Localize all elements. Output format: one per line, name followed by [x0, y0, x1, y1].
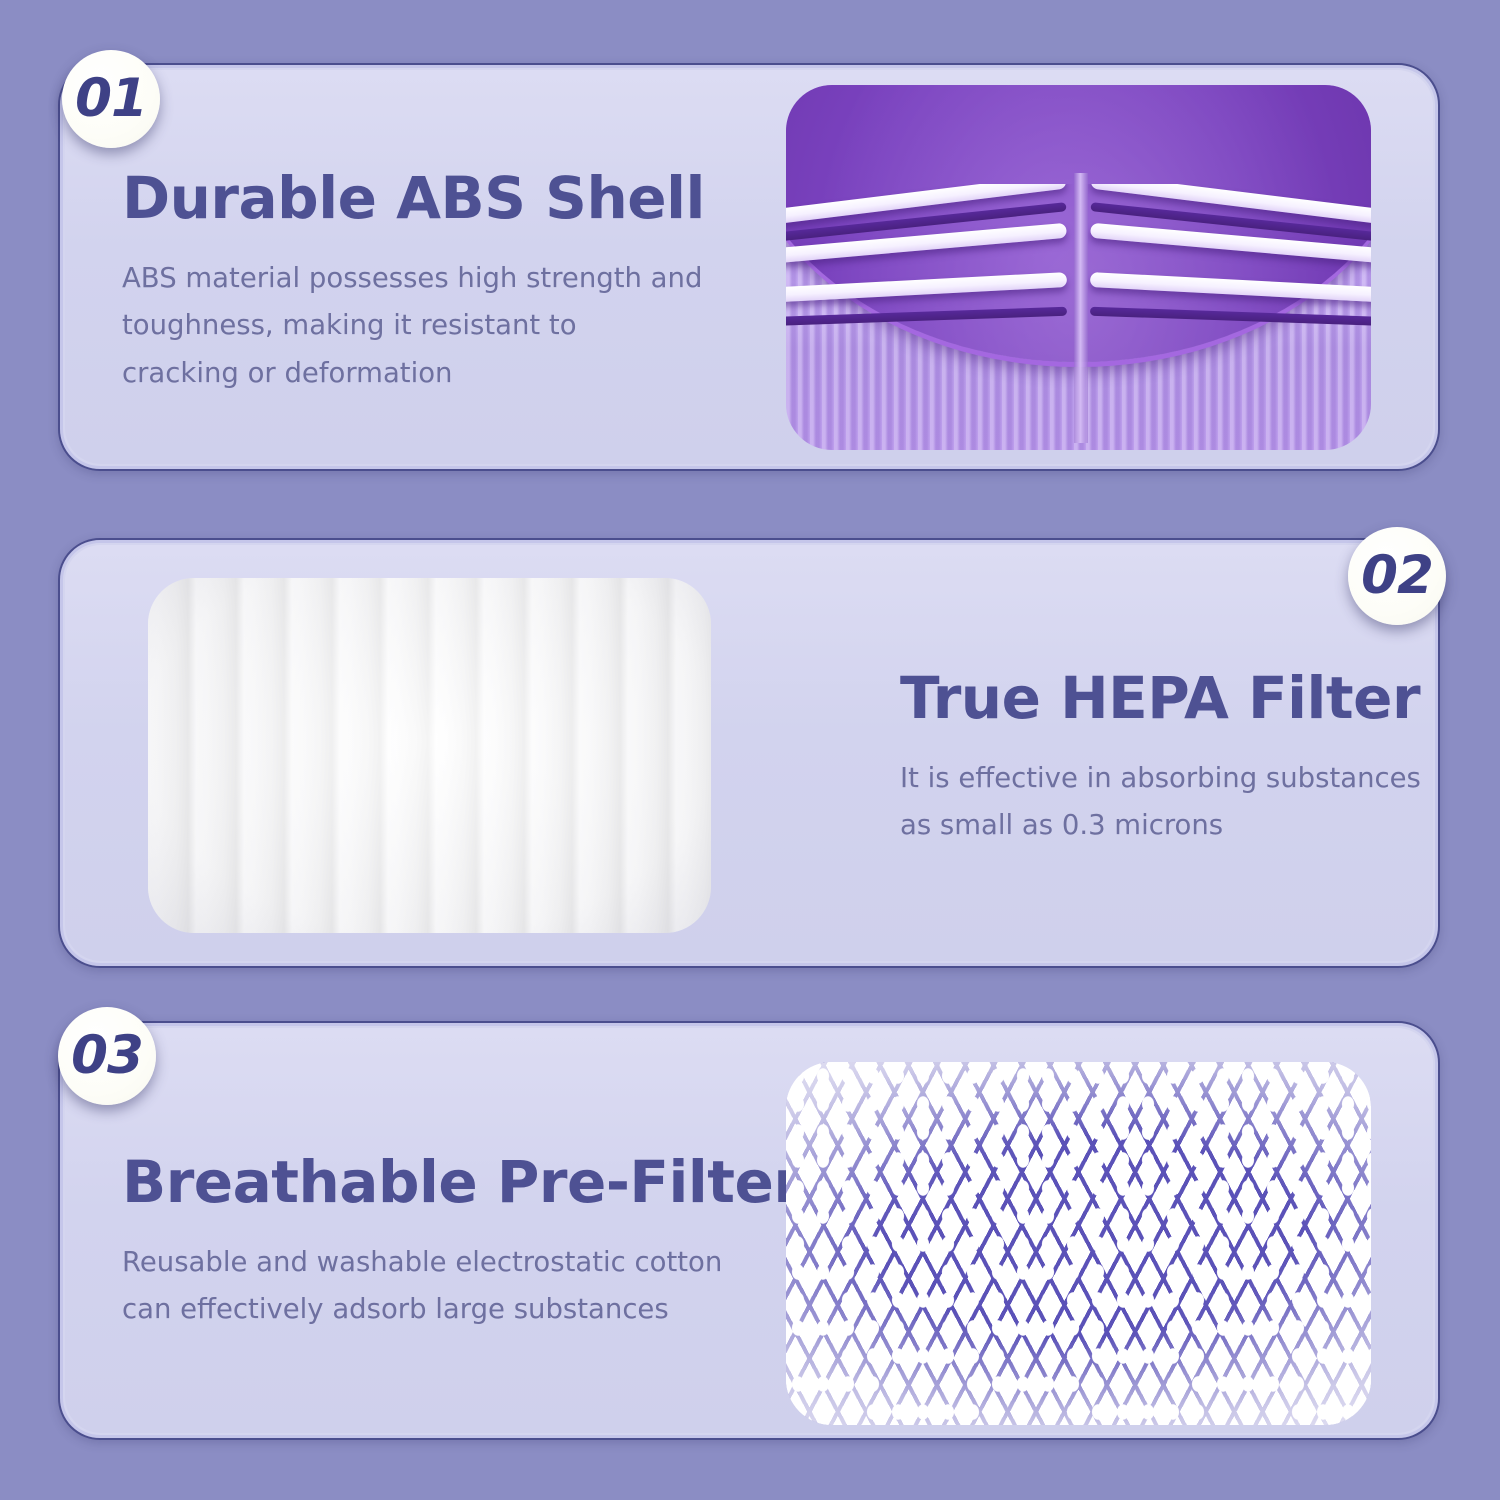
vent-slot-shadow — [786, 306, 1067, 326]
step-badge-01: 01 — [62, 50, 160, 148]
hepa-shading — [148, 578, 711, 933]
feature-3-description: Reusable and washable electrostatic cott… — [122, 1239, 801, 1334]
vent-slot — [786, 272, 1067, 303]
desc-line: as small as 0.3 microns — [900, 802, 1421, 850]
feature-1-description: ABS material possesses high strength and… — [122, 255, 705, 398]
desc-line: ABS material possesses high strength and — [122, 255, 705, 303]
step-badge-03-number: 03 — [71, 1029, 143, 1082]
abs-shell-photo — [786, 85, 1371, 450]
step-badge-03: 03 — [58, 1007, 156, 1105]
step-badge-01-number: 01 — [75, 72, 147, 125]
vent-slot — [1090, 272, 1371, 303]
desc-line: Reusable and washable electrostatic cott… — [122, 1239, 801, 1287]
feature-2-description: It is effective in absorbing substances … — [900, 755, 1421, 850]
step-badge-02: 02 — [1348, 527, 1446, 625]
desc-line: It is effective in absorbing substances — [900, 755, 1421, 803]
mesh-gloss — [786, 1062, 1371, 1425]
feature-1-text: Durable ABS Shell ABS material possesses… — [122, 168, 705, 398]
desc-line: cracking or deformation — [122, 350, 705, 398]
product-feature-infographic: Durable ABS Shell ABS material possesses… — [0, 0, 1500, 1500]
vent-slot-shadow — [1090, 306, 1371, 326]
feature-2-title: True HEPA Filter — [900, 668, 1421, 729]
step-badge-02-number: 02 — [1361, 549, 1433, 602]
feature-3-text: Breathable Pre-Filter Reusable and washa… — [122, 1152, 801, 1334]
feature-2-text: True HEPA Filter It is effective in abso… — [900, 668, 1421, 850]
abs-shell-center-divider — [1074, 173, 1088, 443]
feature-1-title: Durable ABS Shell — [122, 168, 705, 229]
desc-line: can effectively adsorb large substances — [122, 1286, 801, 1334]
desc-line: toughness, making it resistant to — [122, 302, 705, 350]
pre-filter-photo — [786, 1062, 1371, 1425]
hepa-filter-photo — [148, 578, 711, 933]
feature-3-title: Breathable Pre-Filter — [122, 1152, 801, 1213]
